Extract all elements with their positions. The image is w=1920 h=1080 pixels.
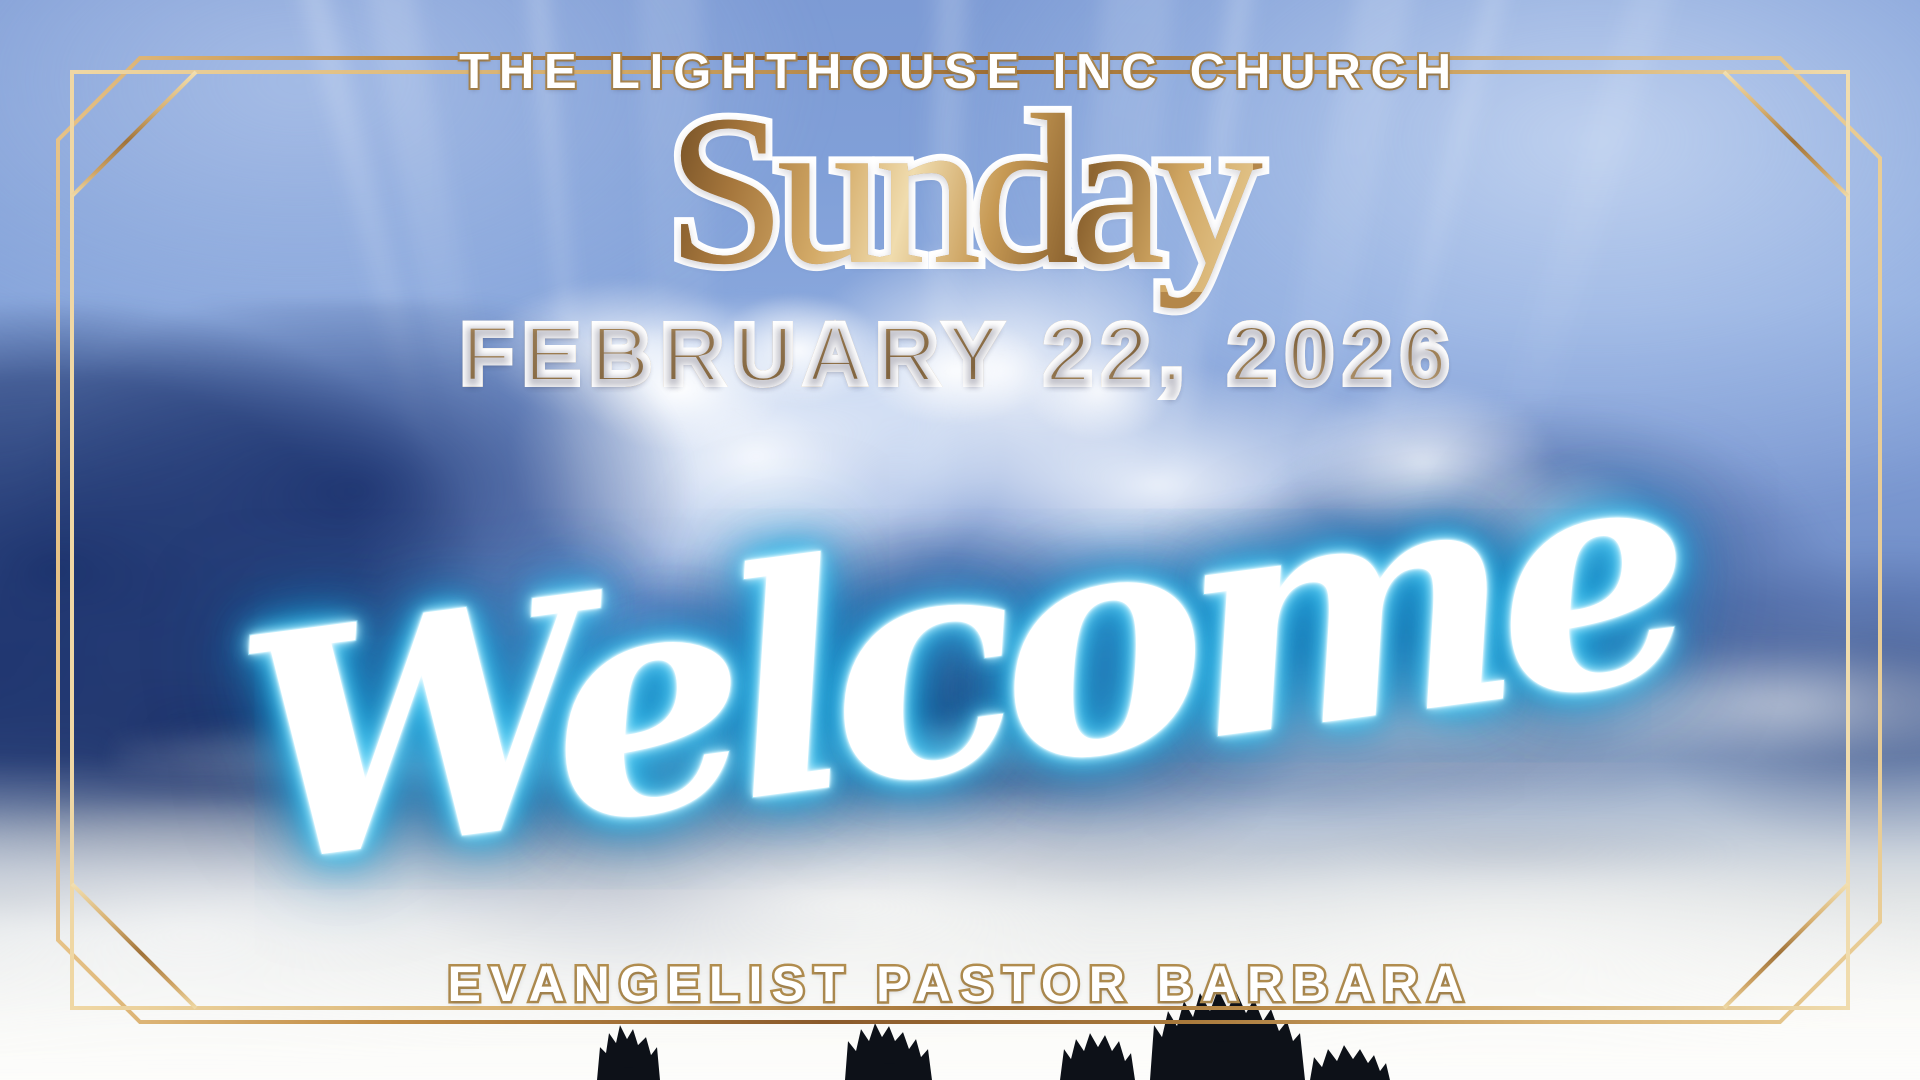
service-date-outline: FEBRUARY 22, 2026	[461, 307, 1459, 401]
flyer-canvas: THE LIGHTHOUSE INC CHURCH Sunday Sunday …	[0, 0, 1920, 1080]
headline-sunday-outline: Sunday	[667, 88, 1254, 292]
headline-group: Sunday Sunday	[667, 88, 1254, 292]
speaker-name: EVANGELIST PASTOR BARBARA	[447, 955, 1472, 1013]
service-date-group: FEBRUARY 22, 2026 FEBRUARY 22, 2026	[461, 306, 1459, 403]
